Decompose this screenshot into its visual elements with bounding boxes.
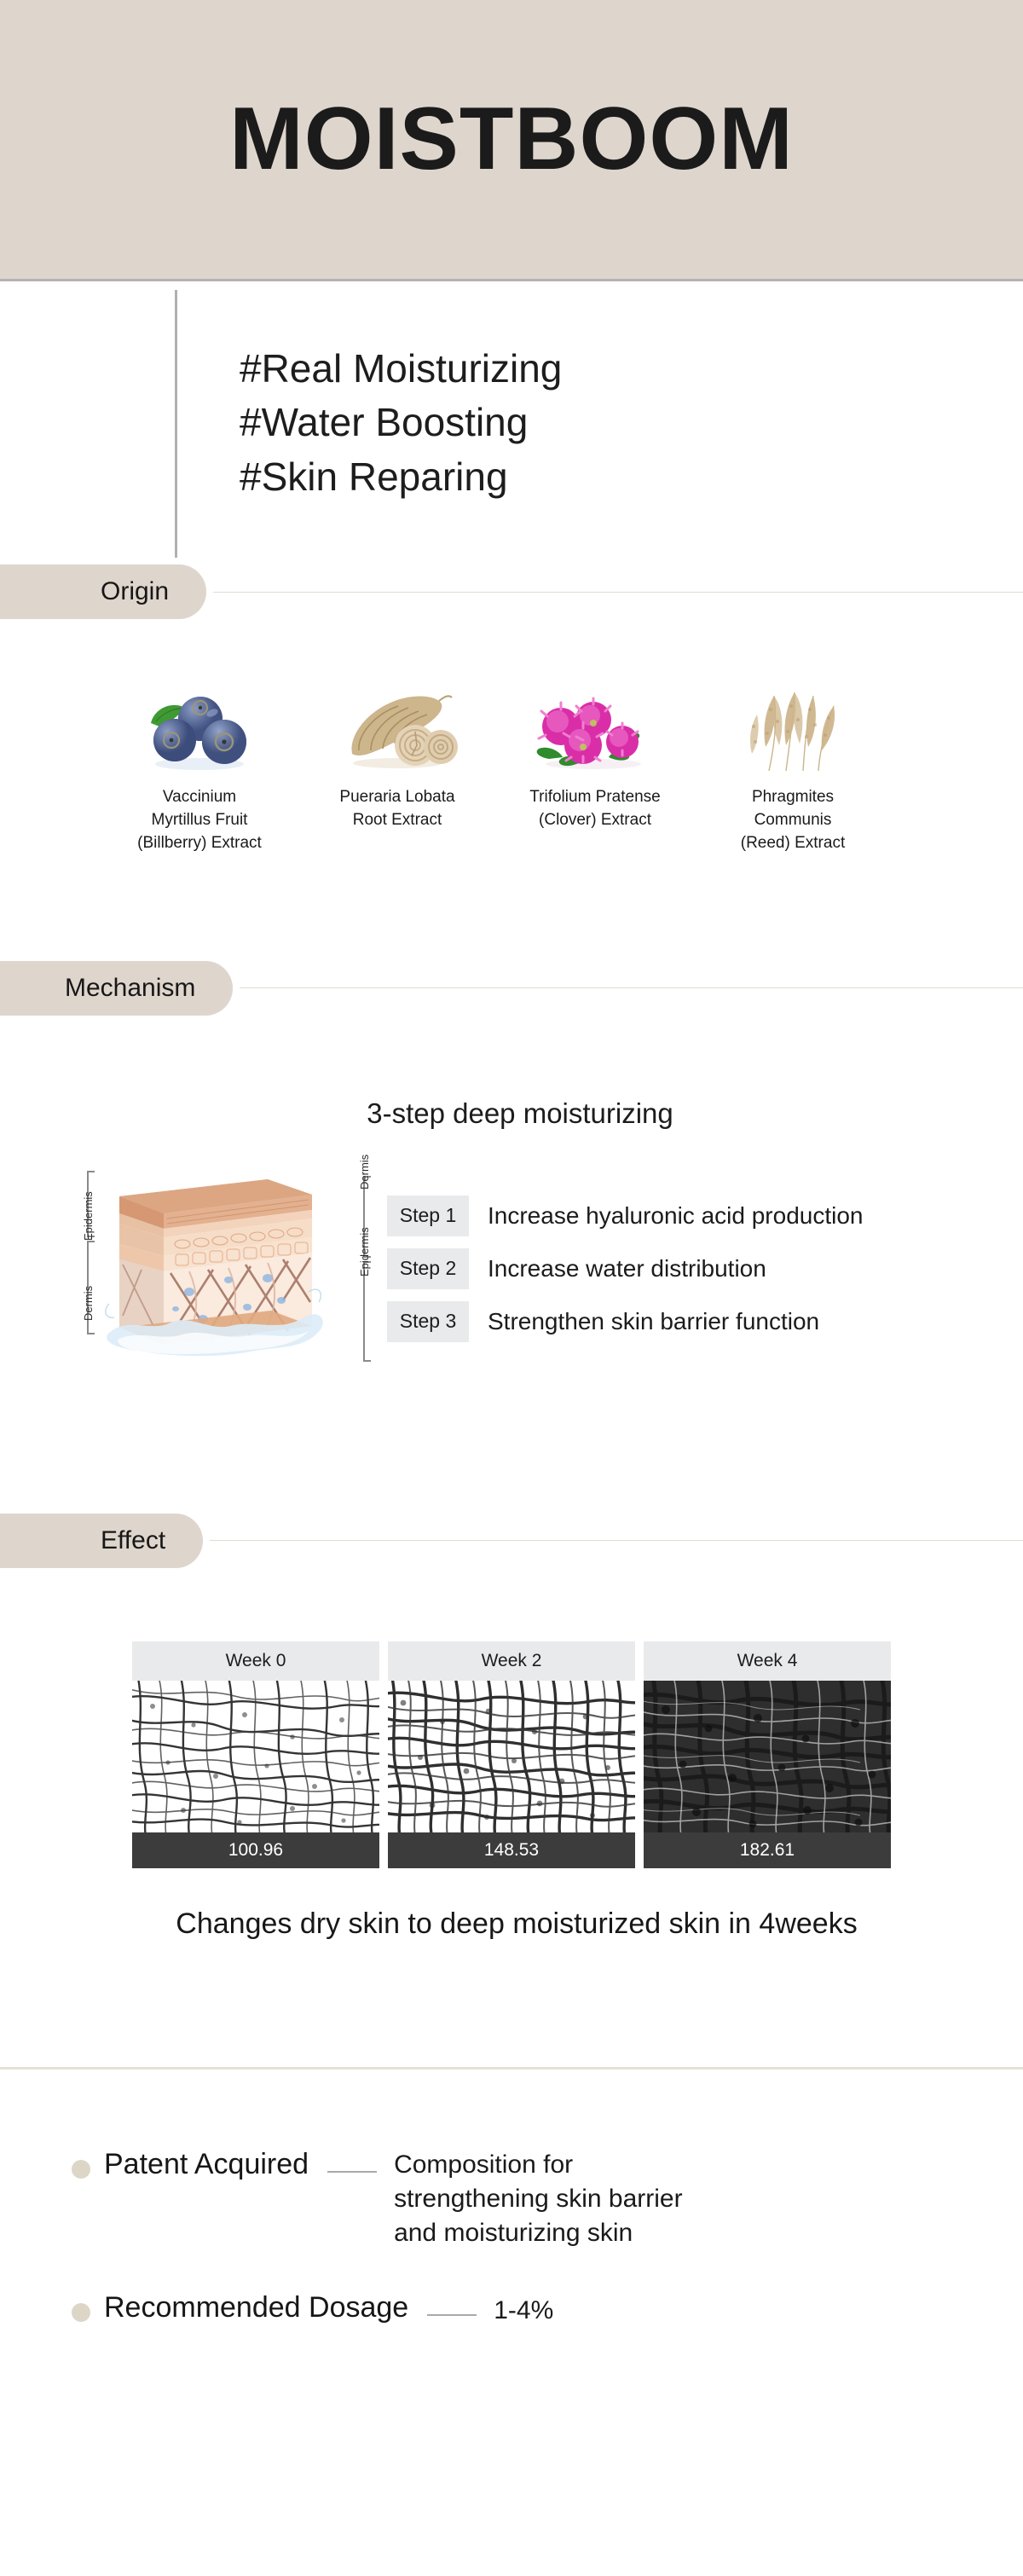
origin-ingredient-list: VacciniumMyrtillus Fruit(Billberry) Extr… [0, 619, 1023, 855]
effect-panel-value: 100.96 [132, 1832, 379, 1868]
reed-grass-icon [716, 674, 870, 773]
section-header-mechanism: Mechanism [0, 961, 1023, 1016]
section-label-mechanism: Mechanism [65, 974, 233, 1003]
skin-label-epidermis: Epidermis [82, 1191, 95, 1241]
ingredient-item: Trifolium Pratense(Clover) Extract [496, 674, 694, 855]
section-header-origin: Origin [0, 564, 1023, 619]
ingredient-item: PhragmitesCommunis(Reed) Extract [694, 674, 892, 855]
section-rule-effect [210, 1540, 1023, 1541]
section-rule-mechanism [240, 987, 1023, 988]
ingredient-label: Trifolium Pratense(Clover) Extract [529, 786, 660, 832]
tagline-line-2: #Water Boosting [240, 396, 562, 449]
tagline-text: #Real Moisturizing #Water Boosting #Skin… [240, 342, 562, 503]
ingredient-item: VacciniumMyrtillus Fruit(Billberry) Extr… [101, 674, 298, 855]
section-label-origin: Origin [101, 577, 206, 606]
step-axis-label-epidermis: Epidermis [358, 1227, 371, 1276]
tagline-section: #Real Moisturizing #Water Boosting #Skin… [0, 281, 1023, 564]
ingredient-label: VacciniumMyrtillus Fruit(Billberry) Extr… [137, 786, 262, 855]
ingredient-item: Pueraria LobataRoot Extract [298, 674, 496, 855]
step-axis-label-dermis: Dermis [358, 1155, 371, 1190]
footer-row-dosage: Recommended Dosage 1-4% [72, 2291, 1023, 2328]
tagline-line-1: #Real Moisturizing [240, 342, 562, 396]
footer-label: Patent Acquired [104, 2148, 309, 2181]
effect-panel: Week 0 [132, 1641, 379, 1868]
tagline-line-3: #Skin Reparing [240, 450, 562, 504]
footer-value: Composition forstrengthening skin barrie… [394, 2148, 683, 2250]
effect-panel-value: 182.61 [644, 1832, 891, 1868]
step-row: Step 1 Increase hyaluronic acid producti… [387, 1195, 863, 1236]
effect-panel: Week 2 [388, 1641, 635, 1868]
footer-row-patent: Patent Acquired Composition forstrengthe… [72, 2148, 1023, 2250]
bullet-dot-icon [72, 2160, 90, 2179]
effect-panel: Week 4 [644, 1641, 891, 1868]
skin-micrograph-image [388, 1681, 635, 1832]
step-chip: Step 1 [387, 1195, 469, 1236]
skin-label-dermis: Dermis [82, 1286, 95, 1321]
tagline-vertical-rule [175, 290, 177, 558]
page-title: MOISTBOOM [229, 89, 794, 190]
step-description: Increase hyaluronic acid production [488, 1202, 863, 1230]
effect-panel-group: Week 0 [0, 1641, 1023, 1868]
section-rule-origin [213, 592, 1023, 593]
footer-connector-dash [327, 2171, 377, 2173]
step-layer-axis: Dermis Epidermis [343, 1176, 377, 1362]
mechanism-body: Epidermis Dermis [0, 1162, 1023, 1375]
step-row: Step 3 Strengthen skin barrier function [387, 1301, 863, 1342]
ingredient-label: Pueraria LobataRoot Extract [339, 786, 454, 832]
effect-panel-week-label: Week 4 [644, 1641, 891, 1681]
kudzu-root-icon [321, 674, 474, 773]
effect-panel-value: 148.53 [388, 1832, 635, 1868]
step-description: Increase water distribution [488, 1255, 766, 1282]
section-pill-origin: Origin [0, 564, 206, 619]
blueberry-icon [123, 674, 276, 773]
step-chip: Step 2 [387, 1248, 469, 1289]
section-pill-mechanism: Mechanism [0, 961, 233, 1016]
section-pill-effect: Effect [0, 1514, 203, 1568]
skin-micrograph-image [132, 1681, 379, 1832]
footer-value: 1-4% [494, 2294, 553, 2328]
section-header-effect: Effect [0, 1514, 1023, 1568]
effect-panel-week-label: Week 2 [388, 1641, 635, 1681]
effect-caption: Changes dry skin to deep moisturized ski… [0, 1907, 1023, 1941]
step-description: Strengthen skin barrier function [488, 1308, 819, 1335]
effect-panel-week-label: Week 0 [132, 1641, 379, 1681]
mechanism-step-list: Step 1 Increase hyaluronic acid producti… [387, 1195, 863, 1342]
footer-info: Patent Acquired Composition forstrengthe… [0, 2069, 1023, 2328]
hero-banner: MOISTBOOM [0, 0, 1023, 281]
bullet-dot-icon [72, 2303, 90, 2322]
clover-flower-icon [518, 674, 672, 773]
footer-connector-dash [427, 2314, 477, 2316]
skin-cross-section-diagram: Epidermis Dermis [61, 1162, 343, 1375]
skin-micrograph-image [644, 1681, 891, 1832]
mechanism-title: 3-step deep moisturizing [0, 1097, 1023, 1130]
section-label-effect: Effect [101, 1526, 203, 1555]
step-row: Step 2 Increase water distribution [387, 1248, 863, 1289]
step-chip: Step 3 [387, 1301, 469, 1342]
ingredient-label: PhragmitesCommunis(Reed) Extract [741, 786, 845, 855]
footer-label: Recommended Dosage [104, 2291, 408, 2324]
